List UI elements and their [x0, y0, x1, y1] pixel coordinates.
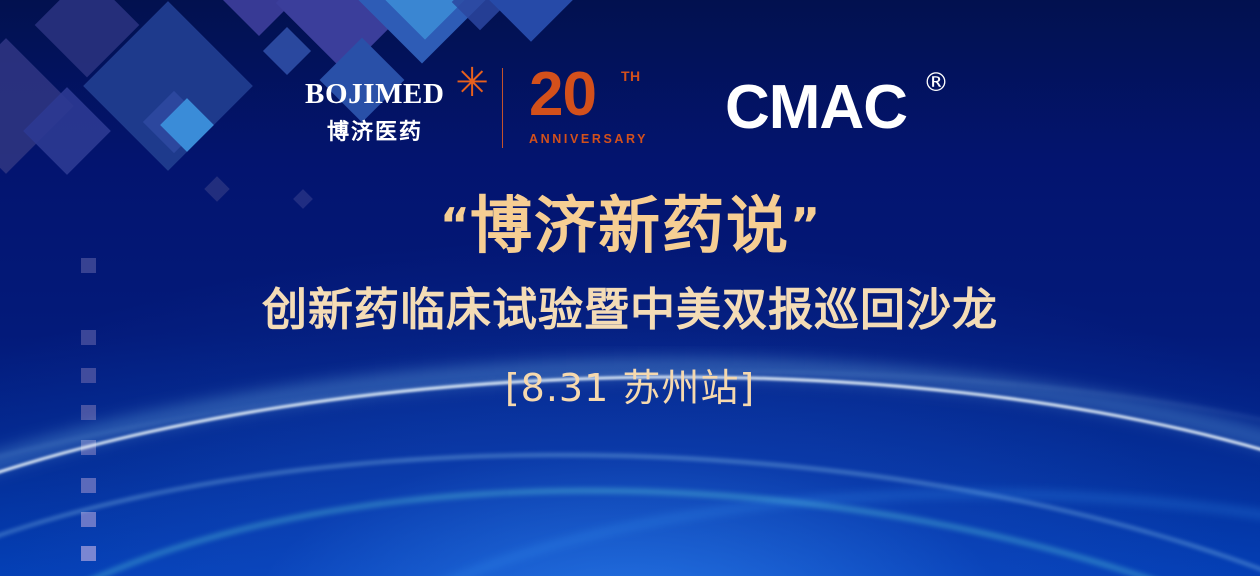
main-title-text: 博济新药说: [470, 189, 790, 262]
anniversary-number: 20: [529, 64, 596, 126]
logo-row: BOJIMED ✳ 博济医药 20 TH ANNIVERSARY CMAC ®: [0, 58, 1260, 158]
anniversary-label: ANNIVERSARY: [529, 132, 648, 146]
logo-divider: [502, 68, 503, 148]
event-poster: BOJIMED ✳ 博济医药 20 TH ANNIVERSARY CMAC ® …: [0, 0, 1260, 576]
quote-open: “: [440, 198, 470, 252]
bojimed-logo[interactable]: BOJIMED ✳ 博济医药: [305, 62, 490, 154]
anniversary-badge: 20 TH ANNIVERSARY: [525, 62, 653, 154]
quote-close: ”: [790, 198, 820, 252]
orange-starburst-icon: ✳: [455, 66, 489, 100]
bojimed-wordmark: BOJIMED: [305, 78, 445, 111]
cmac-wordmark: CMAC: [725, 76, 907, 140]
subtitle: 创新药临床试验暨中美双报巡回沙龙: [0, 283, 1260, 337]
registered-trademark-icon: ®: [923, 68, 949, 98]
date-location: [8.31 苏州站]: [0, 365, 1260, 411]
cmac-logo[interactable]: CMAC ®: [725, 62, 955, 154]
main-title: “博济新药说”: [0, 190, 1260, 261]
headline-block: “博济新药说” 创新药临床试验暨中美双报巡回沙龙 [8.31 苏州站]: [0, 190, 1260, 411]
bojimed-chinese-name: 博济医药: [327, 114, 423, 146]
anniversary-ordinal: TH: [621, 68, 641, 84]
